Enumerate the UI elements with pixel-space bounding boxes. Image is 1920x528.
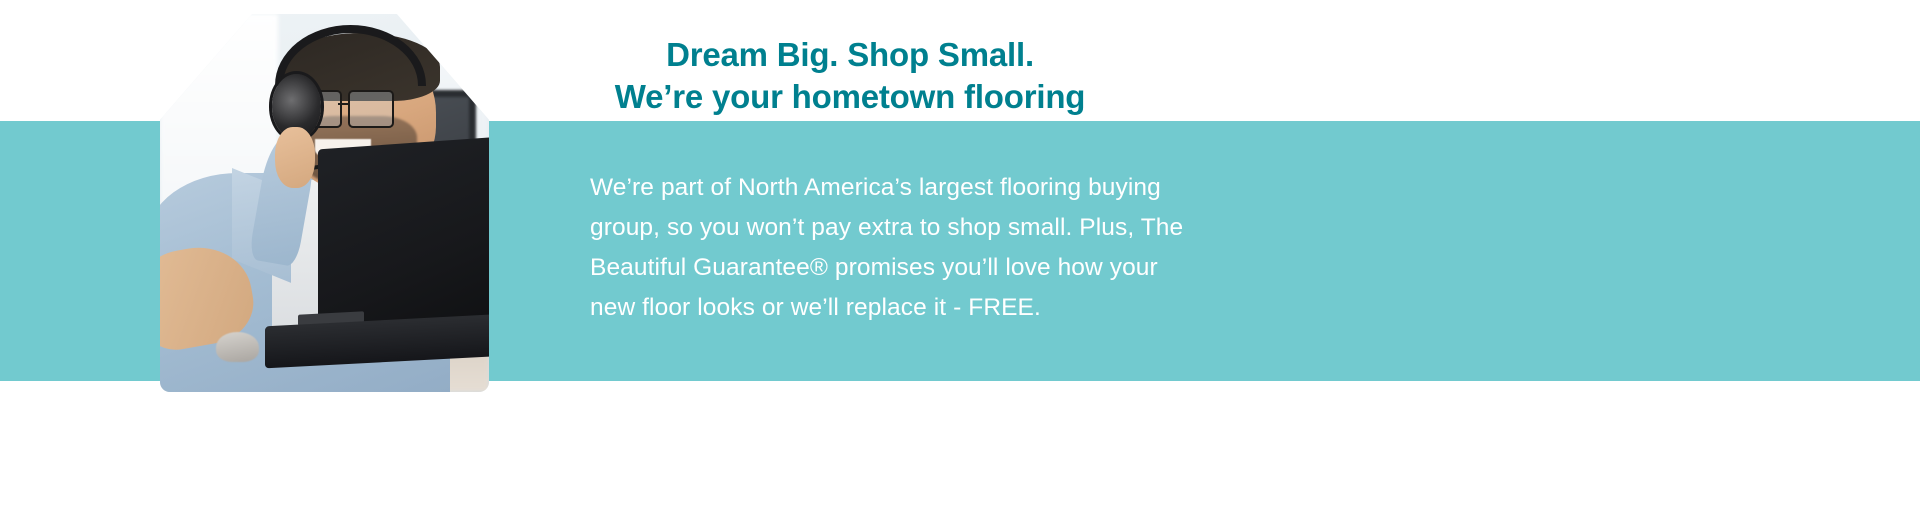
headline-line-2: We’re your hometown flooring	[460, 76, 1240, 118]
photo-glasses-bridge	[338, 103, 350, 106]
photo-hand-at-ear	[275, 127, 314, 187]
body-line-3: Beautiful Guarantee® promises you’ll lov…	[590, 248, 1310, 288]
hero-photo-illustration	[160, 14, 489, 392]
body-line-4: new floor looks or we’ll replace it - FR…	[590, 288, 1310, 328]
body-copy: We’re part of North America’s largest fl…	[590, 168, 1310, 328]
body-line-2: group, so you won’t pay extra to shop sm…	[590, 208, 1310, 248]
page-title: Dream Big. Shop Small. We’re your hometo…	[460, 34, 1240, 118]
headline-line-1: Dream Big. Shop Small.	[460, 34, 1240, 76]
promo-banner: Dream Big. Shop Small. We’re your hometo…	[0, 0, 1920, 528]
hero-photo	[160, 14, 489, 392]
photo-computer-mouse	[216, 332, 259, 362]
photo-glasses-right-lens	[348, 90, 395, 128]
body-line-1: We’re part of North America’s largest fl…	[590, 168, 1310, 208]
